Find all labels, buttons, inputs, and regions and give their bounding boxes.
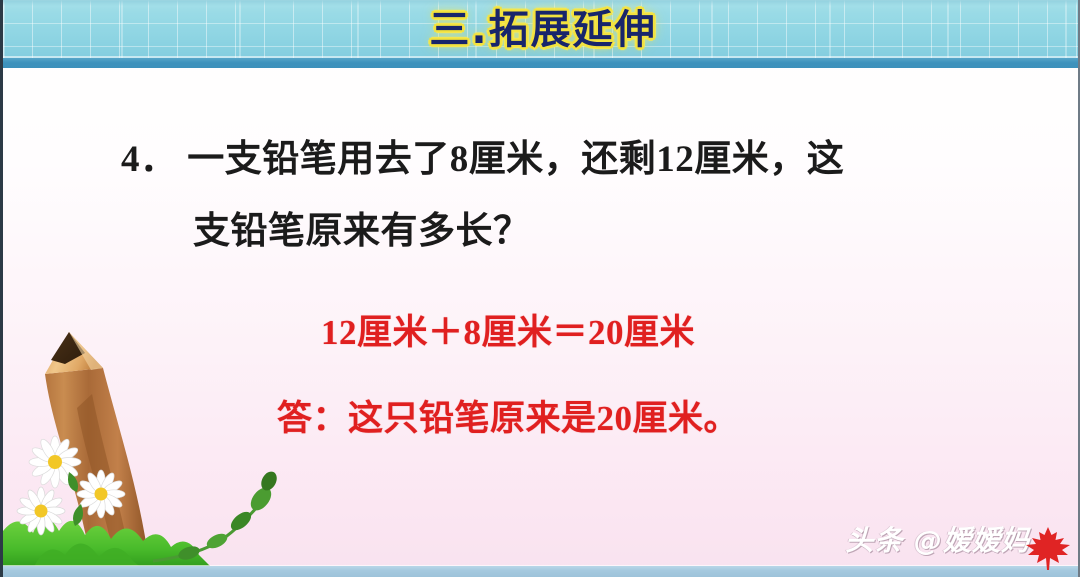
vine-stem	[153, 497, 265, 561]
section-title: 三.拓展延伸	[3, 4, 1080, 56]
solution-answer: 答：这只铅笔原来是20厘米。	[3, 390, 1013, 441]
header-rule	[3, 58, 1080, 68]
maple-leaf-icon	[1024, 525, 1072, 571]
vine-leaf	[247, 484, 276, 514]
solution-equation: 12厘米＋8厘米＝20厘米	[3, 304, 1013, 355]
vine-leaf	[204, 531, 229, 551]
question-text-line-1: 一支铅笔用去了8厘米，还剩12厘米，这	[187, 139, 844, 180]
vine-leaf	[177, 544, 202, 562]
question-block: 4． 一支铅笔用去了8厘米，还剩12厘米，这 支铅笔原来有多长？	[121, 124, 981, 268]
slide-canvas: 三.拓展延伸 4． 一支铅笔用去了8厘米，还剩12厘米，这 支铅笔原来有多长？ …	[0, 0, 1080, 577]
vine-leaf	[258, 469, 280, 493]
daisy-center	[95, 488, 108, 501]
daisy-center	[35, 505, 48, 518]
question-line-2: 支铅笔原来有多长？	[121, 196, 981, 268]
question-number: 4．	[121, 139, 178, 180]
question-line-1: 4． 一支铅笔用去了8厘米，还剩12厘米，这	[121, 124, 981, 196]
vine-leaf	[228, 508, 255, 533]
maple-leaf-shape	[1026, 527, 1070, 570]
daisy-leaf	[73, 504, 83, 526]
bottom-strip	[3, 566, 1080, 577]
watermark-text: 头条 @嫒嫒妈	[845, 519, 1030, 559]
daisy-flower-mid	[55, 466, 145, 536]
